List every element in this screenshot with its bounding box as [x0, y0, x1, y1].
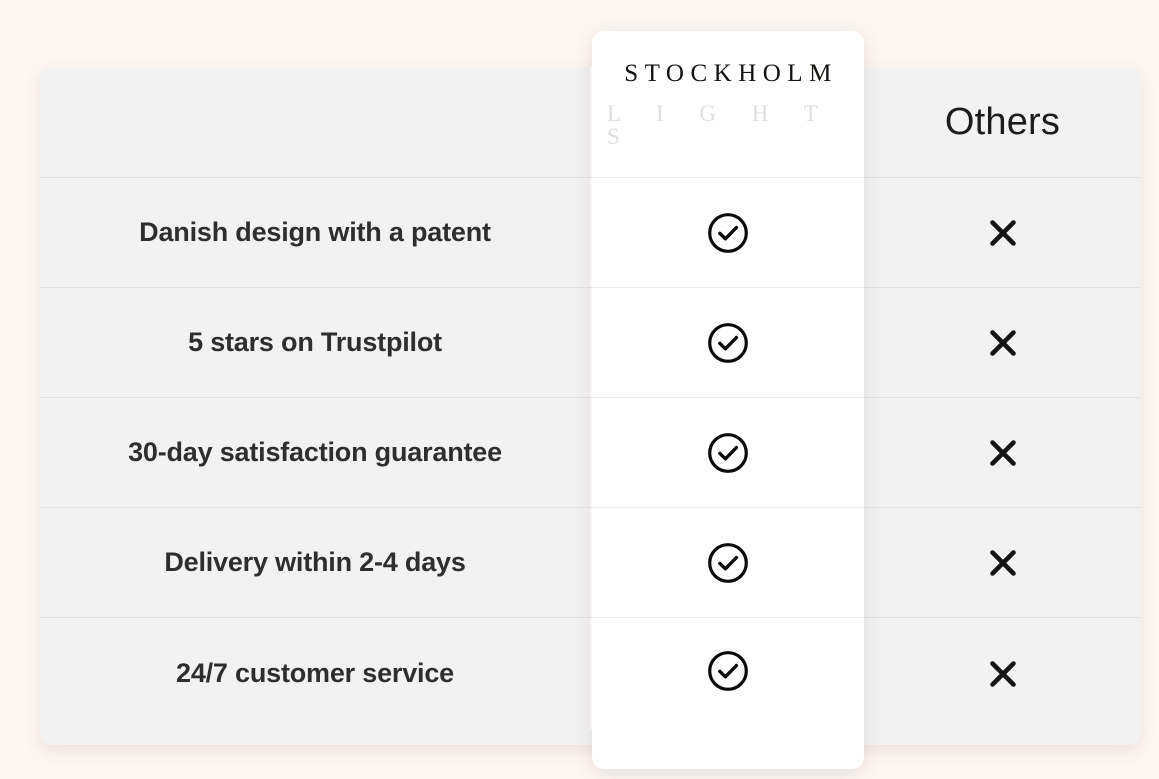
- others-value-cell: [864, 288, 1141, 397]
- feature-label: Danish design with a patent: [139, 217, 491, 248]
- others-value-cell: [864, 398, 1141, 507]
- feature-label: 24/7 customer service: [176, 658, 454, 689]
- header-cell-feature: [40, 67, 592, 177]
- feature-label: Delivery within 2-4 days: [164, 547, 465, 578]
- cross-icon: [988, 548, 1018, 578]
- brand-check-cell: [592, 288, 864, 398]
- feature-cell: 5 stars on Trustpilot: [40, 288, 592, 397]
- feature-cell: 24/7 customer service: [40, 618, 592, 729]
- header-cell-others: Others: [864, 67, 1141, 177]
- brand-name-primary: STOCKHOLM: [618, 61, 838, 86]
- table-row: Danish design with a patent: [40, 178, 1141, 288]
- cross-icon: [988, 328, 1018, 358]
- others-value-cell: [864, 618, 1141, 729]
- brand-check-cell: [592, 398, 864, 508]
- others-value-cell: [864, 178, 1141, 287]
- brand-check-cell: [592, 508, 864, 618]
- cross-icon: [988, 659, 1018, 689]
- table-header-row: Others: [40, 67, 1141, 178]
- brand-logo: STOCKHOLM L I G H T S: [592, 31, 864, 178]
- check-circle-icon: [707, 212, 749, 254]
- feature-cell: Delivery within 2-4 days: [40, 508, 592, 617]
- table-row: 24/7 customer service: [40, 618, 1141, 729]
- check-circle-icon: [707, 322, 749, 364]
- others-value-cell: [864, 508, 1141, 617]
- feature-cell: 30-day satisfaction guarantee: [40, 398, 592, 507]
- table-row: 5 stars on Trustpilot: [40, 288, 1141, 398]
- comparison-table: Others Danish design with a patent 5 sta…: [40, 67, 1141, 745]
- check-circle-icon: [707, 650, 749, 692]
- others-column-title: Others: [945, 101, 1060, 144]
- check-circle-icon: [707, 432, 749, 474]
- brand-check-cell: [592, 618, 864, 729]
- table-row: 30-day satisfaction guarantee: [40, 398, 1141, 508]
- feature-label: 30-day satisfaction guarantee: [128, 437, 502, 468]
- cross-icon: [988, 438, 1018, 468]
- feature-cell: Danish design with a patent: [40, 178, 592, 287]
- check-circle-icon: [707, 542, 749, 584]
- table-row: Delivery within 2-4 days: [40, 508, 1141, 618]
- cross-icon: [988, 218, 1018, 248]
- highlighted-brand-column: STOCKHOLM L I G H T S: [592, 31, 864, 769]
- brand-name-secondary: L I G H T S: [592, 102, 864, 148]
- brand-check-cell: [592, 178, 864, 288]
- feature-label: 5 stars on Trustpilot: [188, 327, 442, 358]
- comparison-table-page: Others Danish design with a patent 5 sta…: [0, 0, 1159, 779]
